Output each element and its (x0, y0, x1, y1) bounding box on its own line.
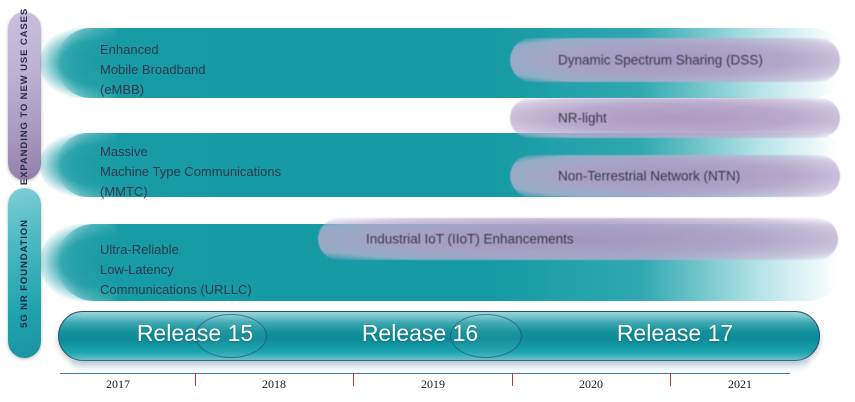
release-label-17: Release 17 (580, 320, 770, 347)
timeline-tick-4 (670, 373, 671, 386)
category-pill-expanding-label: EXPANDING TO NEW USE CASES (19, 7, 30, 184)
use-case-label-mmtc: Massive Machine Type Communications (MMT… (100, 142, 281, 202)
timeline-year-2018: 2018 (234, 377, 314, 392)
feature-pill-industrial-iot-label: Industrial IoT (IIoT) Enhancements (366, 232, 574, 247)
timeline-year-2020: 2020 (551, 377, 631, 392)
feature-pill-dss: Dynamic Spectrum Sharing (DSS) (510, 38, 840, 82)
feature-pill-industrial-iot: Industrial IoT (IIoT) Enhancements (318, 218, 838, 260)
feature-pill-ntn: Non-Terrestrial Network (NTN) (510, 155, 840, 197)
use-case-label-embb: Enhanced Mobile Broadband (eMBB) (100, 40, 206, 100)
feature-pill-nr-light-label: NR-light (558, 111, 607, 126)
timeline-year-2021: 2021 (700, 377, 780, 392)
release-label-15: Release 15 (100, 320, 290, 347)
category-pill-foundation-label: 5G NR FOUNDATION (19, 219, 30, 328)
category-pill-expanding-to-new-use-cases: EXPANDING TO NEW USE CASES (8, 12, 41, 180)
feature-pill-dss-label: Dynamic Spectrum Sharing (DSS) (558, 53, 763, 68)
feature-pill-nr-light: NR-light (510, 98, 840, 138)
feature-pill-ntn-label: Non-Terrestrial Network (NTN) (558, 169, 740, 184)
timeline-tick-3 (512, 373, 513, 386)
release-label-16: Release 16 (325, 320, 515, 347)
timeline-year-2019: 2019 (393, 377, 473, 392)
timeline-tick-2 (353, 373, 354, 386)
use-case-label-urllc: Ultra-Reliable Low-Latency Communication… (100, 240, 252, 300)
release-bar-reflection (70, 359, 810, 373)
category-pill-5g-nr-foundation: 5G NR FOUNDATION (8, 188, 41, 358)
roadmap-diagram: EXPANDING TO NEW USE CASES 5G NR FOUNDAT… (0, 0, 855, 402)
timeline-tick-1 (195, 373, 196, 386)
timeline-year-2017: 2017 (78, 377, 158, 392)
timeline-axis-line (60, 373, 790, 374)
